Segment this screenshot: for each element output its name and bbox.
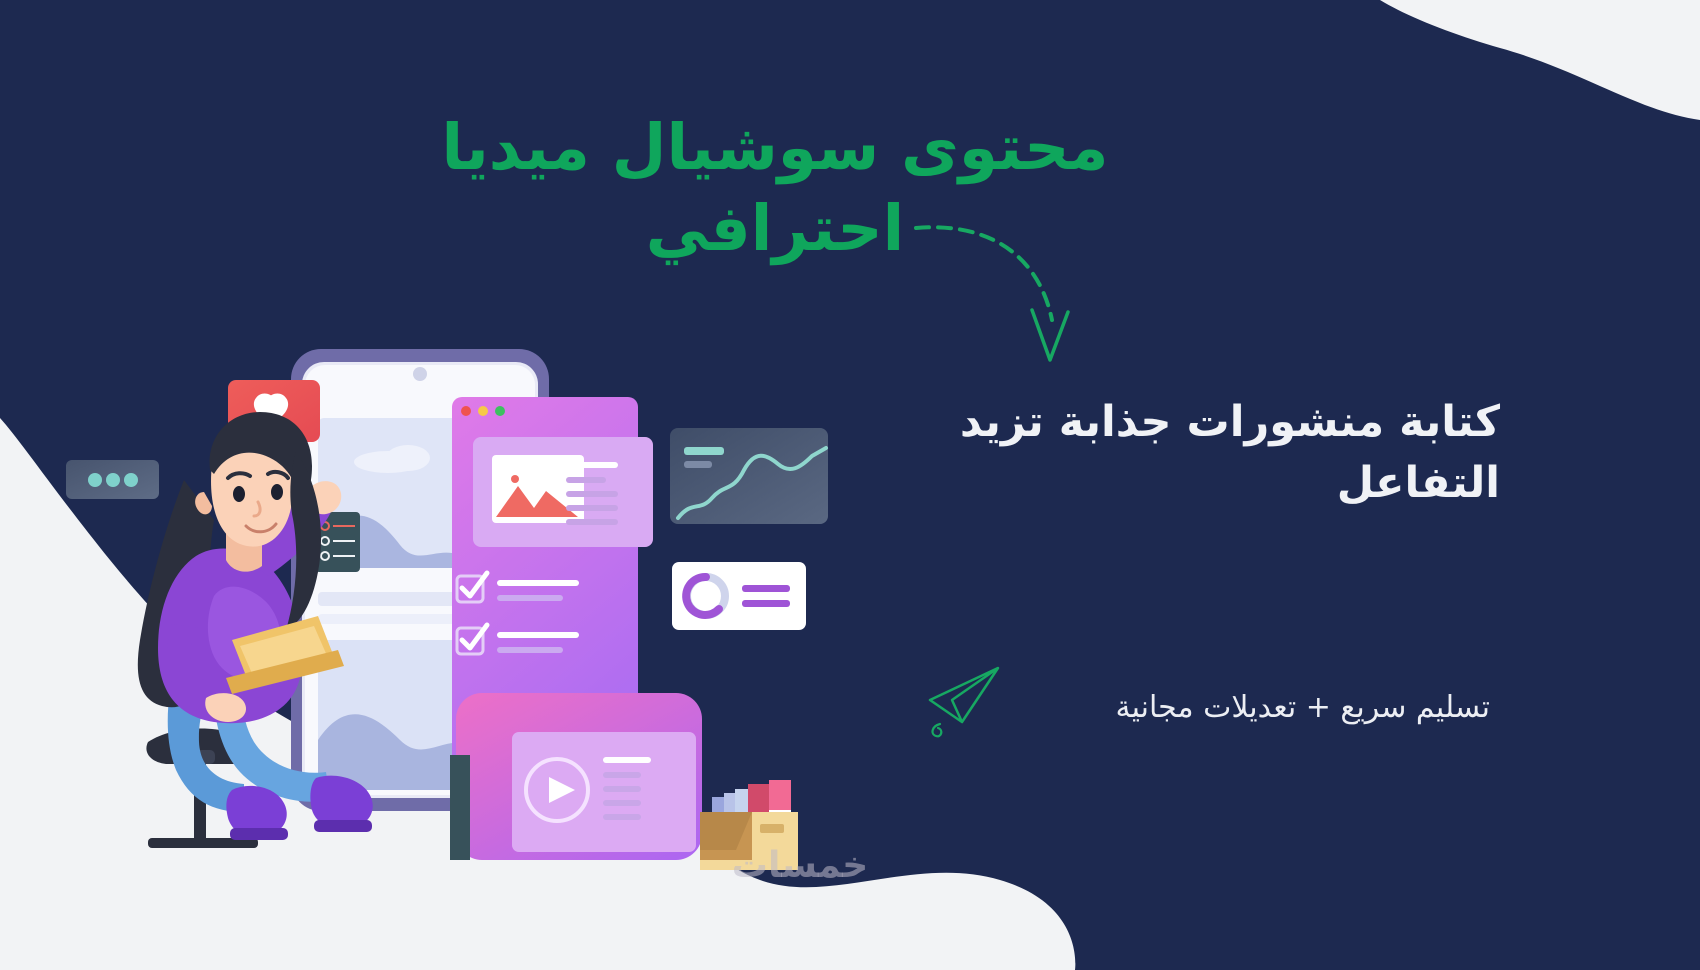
chat-typing-bubble <box>66 460 159 499</box>
cardboard-boxes <box>700 812 798 870</box>
line-chart-widget <box>670 428 828 524</box>
tagline: تسليم سريع + تعديلات مجانية <box>1000 688 1490 727</box>
banner-canvas: محتوى سوشيال ميديا احترافي كتابة منشورات… <box>0 0 1700 970</box>
subheading-line-1: كتابة منشورات جذابة تزيد <box>860 392 1500 453</box>
subheading-line-2: التفاعل <box>860 453 1500 514</box>
paper-plane-outline <box>930 668 998 736</box>
headline-line-1: محتوى سوشيال ميديا <box>380 108 1170 189</box>
subheading: كتابة منشورات جذابة تزيد التفاعل <box>860 392 1500 514</box>
page-title: محتوى سوشيال ميديا احترافي <box>380 108 1170 269</box>
donut-chart-widget <box>672 562 806 630</box>
traffic-light-yellow <box>478 406 488 416</box>
traffic-light-red <box>461 406 471 416</box>
three-dots-icon <box>88 473 102 487</box>
headline-line-2: احترافي <box>380 189 1170 270</box>
video-post-card <box>450 693 702 860</box>
traffic-light-green <box>495 406 505 416</box>
